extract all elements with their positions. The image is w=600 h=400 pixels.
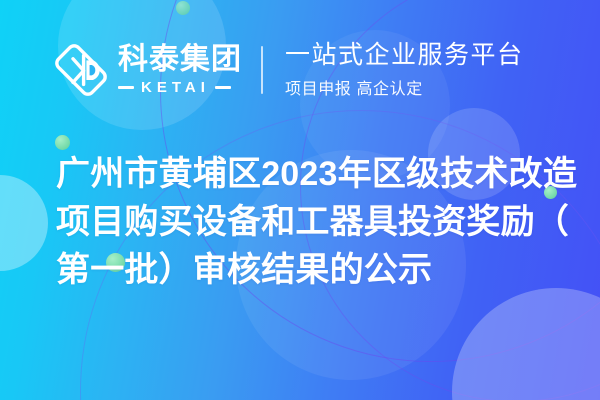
decor-green-dot-top xyxy=(176,1,190,15)
page-title: 广州市黄埔区2023年区级技术改造 项目购买设备和工器具投资奖励（ 第一批）审核… xyxy=(56,150,576,294)
page-title-line-2: 项目购买设备和工器具投资奖励（ xyxy=(56,198,576,246)
logo-rule-left-icon xyxy=(118,86,134,89)
announcement-banner: 科泰集团 KETAI 一站式企业服务平台 项目申报 高企认定 广州市黄埔区202… xyxy=(0,0,600,400)
logo-rule-right-icon xyxy=(215,86,231,89)
brand-name-en: KETAI xyxy=(134,79,215,96)
decor-green-dot-upper-left xyxy=(55,135,70,150)
slogan-primary: 一站式企业服务平台 xyxy=(285,42,524,69)
page-title-line-3: 第一批）审核结果的公示 xyxy=(56,246,576,294)
brand-name-en-row: KETAI xyxy=(118,79,242,96)
slogan-block: 一站式企业服务平台 项目申报 高企认定 xyxy=(285,42,524,99)
header-divider xyxy=(261,46,263,94)
brand-logo[interactable]: 科泰集团 KETAI xyxy=(53,42,242,98)
brand-name-cn: 科泰集团 xyxy=(118,45,242,76)
decor-circle-left-edge xyxy=(0,175,48,271)
ketai-diamond-kd-monogram-icon xyxy=(53,42,109,98)
banner-header: 科泰集团 KETAI 一站式企业服务平台 项目申报 高企认定 xyxy=(0,34,600,106)
page-title-line-1: 广州市黄埔区2023年区级技术改造 xyxy=(56,150,576,198)
slogan-secondary: 项目申报 高企认定 xyxy=(285,75,524,99)
brand-logo-wordmark: 科泰集团 KETAI xyxy=(118,45,242,96)
decor-circle-bottom-right xyxy=(452,288,600,400)
